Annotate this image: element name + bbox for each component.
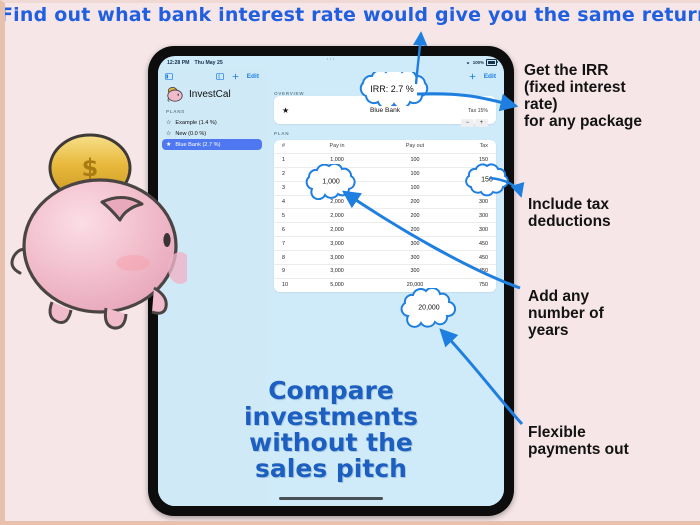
detail-add-button[interactable] xyxy=(469,73,476,80)
payin-bubble-label: 1,000 xyxy=(300,179,362,186)
payout-bubble-label: 20,000 xyxy=(396,305,462,312)
payin-bubble: 1,000 xyxy=(300,164,362,200)
col-header-number: # xyxy=(282,143,298,149)
table-row[interactable]: 8 3,000 300 450 xyxy=(274,251,496,265)
marketing-line: Compare xyxy=(158,378,504,404)
cell-tax: 450 xyxy=(454,268,488,274)
battery-percent: 100% xyxy=(473,60,484,65)
cell-pay-out[interactable]: 300 xyxy=(376,255,454,261)
battery-icon xyxy=(486,59,497,66)
callout-irr: Get the IRR (fixed interest rate) for an… xyxy=(524,62,700,130)
callout-line: years xyxy=(528,322,700,339)
table-row[interactable]: 10 5,000 20,000 750 xyxy=(274,279,496,292)
cell-number: 2 xyxy=(282,171,298,177)
tax-bubble-label: 150 xyxy=(461,177,513,184)
col-header-pay-out: Pay out xyxy=(376,143,454,149)
status-time: 12:28 PM xyxy=(167,60,190,66)
cell-tax: 300 xyxy=(454,227,488,233)
promo-headline: Find out what bank interest rate would g… xyxy=(0,4,700,26)
callout-line: deductions xyxy=(528,213,700,230)
tax-bubble: 150 xyxy=(461,163,513,197)
cell-tax: 450 xyxy=(454,241,488,247)
tax-label: Tax 15% xyxy=(468,108,488,114)
cell-pay-out[interactable]: 200 xyxy=(376,227,454,233)
cell-number: 6 xyxy=(282,227,298,233)
callout-line: Add any xyxy=(528,288,700,305)
cell-tax: 300 xyxy=(454,213,488,219)
callout-line: for any package xyxy=(524,113,700,130)
marketing-line: investments xyxy=(158,404,504,430)
payout-bubble: 20,000 xyxy=(396,288,462,328)
marketing-text: Compare investments without the sales pi… xyxy=(158,378,504,482)
status-right: 100% xyxy=(465,59,497,66)
table-row[interactable]: 9 3,000 300 450 xyxy=(274,265,496,279)
split-view-icon[interactable] xyxy=(216,73,224,80)
cell-pay-out[interactable]: 100 xyxy=(376,185,454,191)
ipad-screen: 12:28 PM Thu May 25 ··· 100% xyxy=(158,56,504,506)
status-bar: 12:28 PM Thu May 25 ··· 100% xyxy=(158,56,504,69)
cell-pay-out[interactable]: 200 xyxy=(376,213,454,219)
cell-number: 4 xyxy=(282,199,298,205)
cell-number: 10 xyxy=(282,282,298,288)
cell-pay-in[interactable]: 1,000 xyxy=(298,157,376,163)
cell-pay-out[interactable]: 100 xyxy=(376,171,454,177)
cell-pay-out[interactable]: 300 xyxy=(376,241,454,247)
cell-number: 8 xyxy=(282,255,298,261)
marketing-line: without the xyxy=(158,430,504,456)
sidebar-add-button[interactable] xyxy=(232,73,239,80)
col-header-tax: Tax xyxy=(454,143,488,149)
detail-edit-button[interactable]: Edit xyxy=(484,73,496,80)
table-row[interactable]: 6 2,000 200 300 xyxy=(274,223,496,237)
tax-decrement-button[interactable]: − xyxy=(461,119,474,127)
tax-stepper[interactable]: − + xyxy=(461,119,488,127)
cell-number: 9 xyxy=(282,268,298,274)
cell-tax: 450 xyxy=(454,255,488,261)
cell-pay-in[interactable]: 3,000 xyxy=(298,255,376,261)
app-title: InvestCal xyxy=(189,89,231,100)
cell-pay-out[interactable]: 300 xyxy=(376,268,454,274)
callout-line: payments out xyxy=(528,441,700,458)
callout-tax: Include tax deductions xyxy=(528,196,700,230)
table-header-row: # Pay in Pay out Tax xyxy=(274,140,496,154)
wifi-icon xyxy=(465,60,471,65)
home-indicator xyxy=(279,497,383,500)
cell-pay-in[interactable]: 2,000 xyxy=(298,227,376,233)
callout-line: Get the IRR xyxy=(524,62,700,79)
table-row[interactable]: 7 3,000 300 450 xyxy=(274,237,496,251)
sidebar-edit-button[interactable]: Edit xyxy=(247,73,259,80)
sidebar-toolbar: Edit xyxy=(158,69,266,84)
cell-pay-in[interactable]: 2,000 xyxy=(298,213,376,219)
sidebar-toggle-icon[interactable] xyxy=(165,73,173,80)
cell-pay-in[interactable]: 5,000 xyxy=(298,282,376,288)
app-logo-piggy-icon xyxy=(165,86,185,102)
tax-increment-button[interactable]: + xyxy=(475,119,488,127)
cell-pay-in[interactable]: 3,000 xyxy=(298,241,376,247)
app-title-row: InvestCal xyxy=(158,84,266,102)
callout-line: Flexible xyxy=(528,424,700,441)
cell-tax: 300 xyxy=(454,199,488,205)
callout-line: Include tax xyxy=(528,196,700,213)
col-header-pay-in: Pay in xyxy=(298,143,376,149)
cell-number: 7 xyxy=(282,241,298,247)
cell-pay-out[interactable]: 100 xyxy=(376,157,454,163)
tax-control: Tax 15% − + xyxy=(461,99,488,127)
sidebar-section-label: PLANS xyxy=(158,109,266,114)
cell-number: 1 xyxy=(282,157,298,163)
svg-text:$: $ xyxy=(82,154,99,182)
callout-flexible: Flexible payments out xyxy=(528,424,700,458)
irr-bubble-label: IRR: 2.7 % xyxy=(352,84,432,94)
plan-section-label: PLAN xyxy=(266,131,504,136)
callout-years: Add any number of years xyxy=(528,288,700,339)
multitask-dots-icon[interactable]: ··· xyxy=(327,57,336,63)
cell-number: 5 xyxy=(282,213,298,219)
cell-number: 3 xyxy=(282,185,298,191)
status-date: Thu May 25 xyxy=(195,60,223,66)
marketing-line: sales pitch xyxy=(158,456,504,482)
ipad-device: 12:28 PM Thu May 25 ··· 100% xyxy=(148,46,514,516)
callout-line: (fixed interest xyxy=(524,79,700,96)
irr-bubble: IRR: 2.7 % xyxy=(352,72,432,106)
callout-line: number of xyxy=(528,305,700,322)
table-row[interactable]: 5 2,000 200 300 xyxy=(274,209,496,223)
callout-line: rate) xyxy=(524,96,700,113)
cell-pay-out[interactable]: 200 xyxy=(376,199,454,205)
cell-pay-in[interactable]: 3,000 xyxy=(298,268,376,274)
piggy-bank-mascot: $ xyxy=(2,118,187,353)
